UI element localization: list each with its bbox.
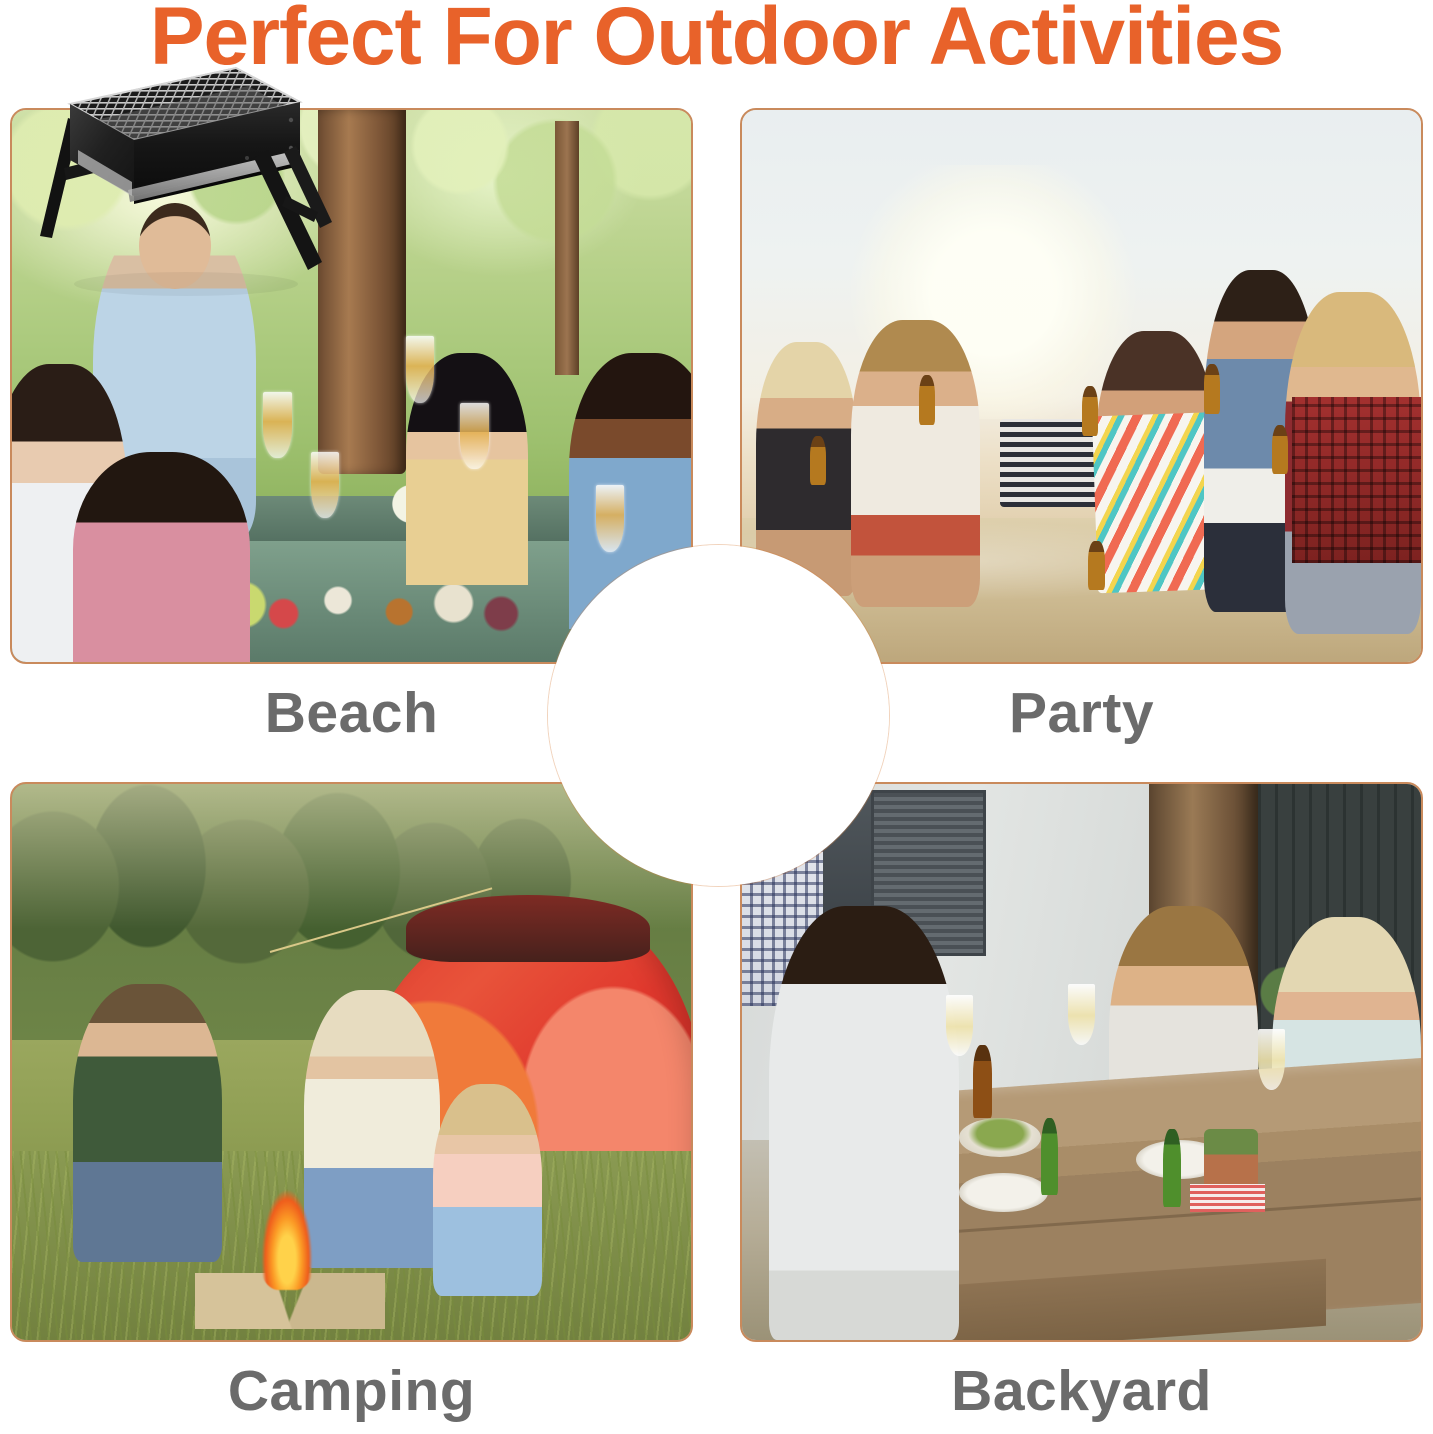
grill-front-legs [254,146,332,270]
person-child [433,1084,542,1295]
wine-glass [1258,1029,1285,1090]
green-beer-bottle [1041,1118,1059,1196]
tent-rainfly [406,895,650,962]
drink-glass [311,452,340,518]
salad-bowl [959,1118,1040,1157]
caption-camping: Camping [10,1358,693,1424]
drink-glass [263,392,292,458]
wine-glass [946,995,973,1056]
checkered-napkin [1190,1184,1265,1212]
wine-glass [1068,984,1095,1045]
beer-bottle [919,375,935,425]
marketing-infographic: Perfect For Outdoor Activities Beach [0,0,1433,1434]
photo-panel-camping [10,782,693,1342]
product-medallion [548,545,889,886]
photo-panel-party [740,108,1423,664]
beer-bottle [1204,364,1220,414]
amber-bottle [973,1045,992,1117]
charcoal-grill-product-image [0,0,341,341]
scene-backyard-dining [742,784,1421,1340]
person-man-back-to-camera [769,906,959,1340]
scene-beach-party [742,110,1421,662]
person-man-white-tshirt [851,320,980,607]
scene-campfire [12,784,691,1340]
dinner-plate [959,1173,1047,1212]
photo-panel-backyard [740,782,1423,1342]
drink-glass [406,336,435,402]
beer-bottle [1088,541,1104,591]
campfire-flame [256,1168,317,1290]
person-man-green-shirt [73,984,222,1262]
caption-backyard: Backyard [740,1358,1423,1424]
green-beer-bottle [1163,1129,1181,1207]
potted-plant [1204,1129,1258,1190]
tree-trunk-secondary [555,121,579,375]
medallion-white-field [558,555,879,876]
product-shadow [74,272,298,296]
beer-bottle [810,436,826,486]
drink-glass [596,485,625,551]
plaid-shirt-detail [1292,397,1421,563]
beer-bottle [1082,386,1098,436]
person-man-pink-shirt [73,452,250,664]
person-woman-hoodie [304,990,440,1268]
beer-bottle [1272,425,1288,475]
drink-glass [460,403,489,469]
